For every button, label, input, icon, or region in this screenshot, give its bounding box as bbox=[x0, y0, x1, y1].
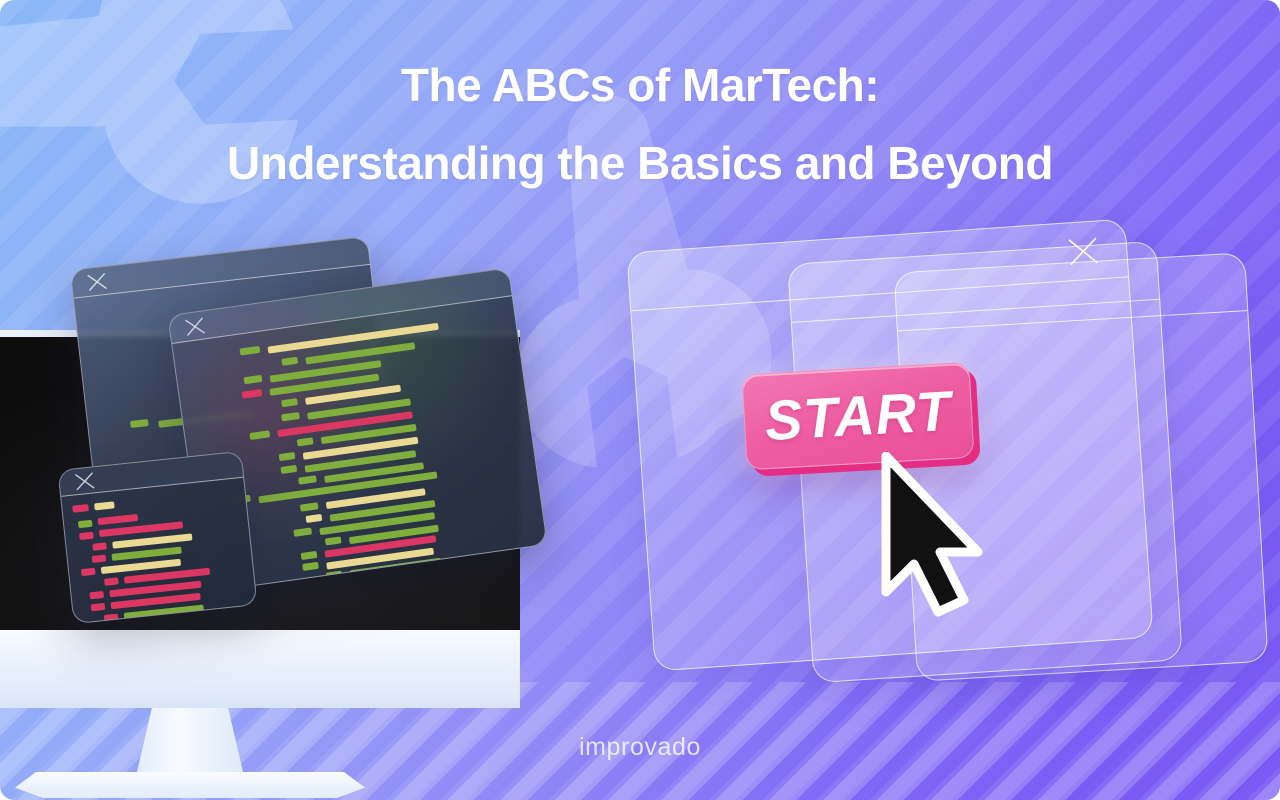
code-window-body bbox=[61, 478, 256, 625]
code-line bbox=[92, 542, 107, 550]
code-line bbox=[244, 375, 263, 384]
close-x-icon[interactable] bbox=[73, 469, 97, 493]
mouse-cursor-arrow-icon bbox=[878, 452, 986, 617]
title-line-1: The ABCs of MarTech: bbox=[0, 62, 1280, 108]
code-line bbox=[242, 389, 263, 399]
code-line bbox=[79, 532, 94, 540]
glass-window-titlebar bbox=[627, 220, 1128, 312]
code-line bbox=[240, 346, 261, 356]
close-x-icon[interactable] bbox=[85, 269, 109, 293]
close-x-icon[interactable] bbox=[1065, 233, 1101, 269]
monitor-stand-foot bbox=[15, 772, 365, 798]
code-line bbox=[91, 603, 106, 611]
start-button-label: START bbox=[763, 383, 952, 449]
code-line bbox=[298, 475, 317, 484]
code-line bbox=[280, 465, 297, 474]
code-line bbox=[301, 551, 318, 560]
code-line bbox=[130, 419, 149, 428]
code-line bbox=[325, 536, 342, 545]
monitor-chin bbox=[0, 630, 520, 708]
code-line bbox=[281, 412, 300, 421]
code-line bbox=[281, 357, 298, 366]
title-line-2: Understanding the Basics and Beyond bbox=[0, 140, 1280, 186]
code-line bbox=[72, 504, 89, 513]
code-line bbox=[293, 527, 312, 536]
code-line bbox=[92, 555, 107, 563]
code-line bbox=[249, 430, 270, 440]
hero-banner: The ABCs of MarTech: Understanding the B… bbox=[0, 0, 1280, 800]
code-line bbox=[81, 568, 96, 576]
code-line bbox=[302, 562, 319, 571]
code-line bbox=[297, 437, 314, 446]
code-line bbox=[94, 501, 115, 510]
code-line bbox=[78, 520, 93, 528]
code-line bbox=[279, 452, 296, 461]
code-line bbox=[305, 514, 322, 523]
code-window-small[interactable] bbox=[57, 451, 257, 624]
code-line bbox=[300, 502, 319, 511]
page-title: The ABCs of MarTech: Understanding the B… bbox=[0, 62, 1280, 186]
code-line bbox=[98, 514, 139, 525]
improvado-logo: improvado bbox=[0, 733, 1280, 762]
close-x-icon[interactable] bbox=[183, 314, 208, 339]
code-line bbox=[89, 591, 104, 599]
code-line bbox=[104, 577, 119, 585]
code-line bbox=[281, 398, 298, 407]
